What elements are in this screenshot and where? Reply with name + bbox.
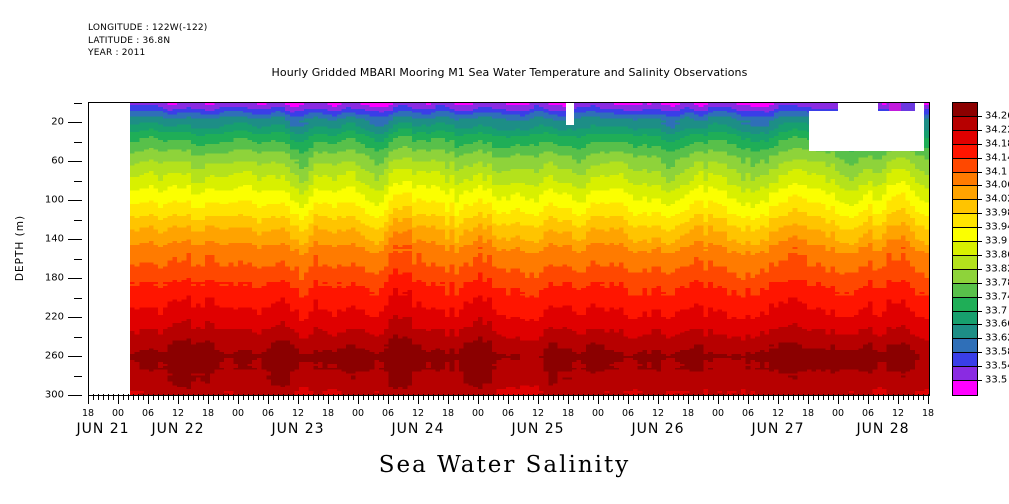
x-axis-minor-tick — [728, 394, 729, 400]
x-axis-major-tick — [688, 394, 689, 404]
colorbar-segment — [953, 117, 977, 131]
y-axis-major-tick — [68, 239, 82, 240]
x-axis-hour-label: 18 — [562, 408, 574, 419]
x-axis-minor-tick — [653, 394, 654, 400]
y-axis-title: DEPTH (m) — [14, 215, 26, 281]
colorbar-tick-label: 34.06 — [985, 180, 1009, 191]
x-axis-minor-tick — [563, 394, 564, 400]
x-axis-minor-tick — [793, 394, 794, 400]
heatmap-plot-area — [88, 102, 930, 396]
x-axis-minor-tick — [248, 394, 249, 400]
colorbar-tick — [977, 227, 982, 228]
x-axis-minor-tick — [593, 394, 594, 400]
x-axis-minor-tick — [483, 394, 484, 400]
y-axis-major-tick — [68, 161, 82, 162]
y-axis-major-tick — [68, 200, 82, 201]
x-axis-hour-label: 12 — [532, 408, 544, 419]
colorbar-segment — [953, 200, 977, 214]
colorbar-segment — [953, 145, 977, 159]
x-axis-minor-tick — [128, 394, 129, 400]
colorbar-tick — [977, 116, 982, 117]
x-axis-minor-tick — [188, 394, 189, 400]
x-axis-minor-tick — [558, 394, 559, 400]
x-axis-minor-tick — [893, 394, 894, 400]
x-axis-major-tick — [478, 394, 479, 404]
x-axis-day-label: JUN 21 — [76, 421, 129, 437]
x-axis-major-tick — [628, 394, 629, 404]
x-axis-minor-tick — [438, 394, 439, 400]
colorbar-segment — [953, 242, 977, 256]
x-axis-minor-tick — [288, 394, 289, 400]
x-axis-minor-tick — [698, 394, 699, 400]
x-axis-hour-label: 00 — [592, 408, 604, 419]
x-axis-hour-label: 06 — [862, 408, 874, 419]
x-axis-minor-tick — [303, 394, 304, 400]
x-axis-minor-tick — [318, 394, 319, 400]
x-axis-minor-tick — [708, 394, 709, 400]
x-axis-minor-tick — [493, 394, 494, 400]
x-axis-minor-tick — [878, 394, 879, 400]
x-axis-minor-tick — [613, 394, 614, 400]
x-axis-minor-tick — [333, 394, 334, 400]
x-axis-major-tick — [118, 394, 119, 404]
x-axis-minor-tick — [163, 394, 164, 400]
colorbar-segment — [953, 381, 977, 395]
x-axis-minor-tick — [373, 394, 374, 400]
longitude-text: LONGITUDE : 122W(-122) — [88, 22, 208, 35]
x-axis-major-tick — [808, 394, 809, 404]
y-axis-minor-tick — [74, 376, 82, 377]
x-axis-minor-tick — [578, 394, 579, 400]
x-axis-minor-tick — [833, 394, 834, 400]
colorbar-segment — [953, 173, 977, 187]
x-axis-minor-tick — [393, 394, 394, 400]
colorbar-segment — [953, 228, 977, 242]
colorbar-tick — [977, 255, 982, 256]
x-axis-minor-tick — [873, 394, 874, 400]
x-axis-major-tick — [868, 394, 869, 404]
x-axis-hour-label: 18 — [802, 408, 814, 419]
colorbar-tick-label: 33.62 — [985, 333, 1009, 344]
x-axis-major-tick — [448, 394, 449, 404]
colorbar-tick — [977, 297, 982, 298]
x-axis-minor-tick — [548, 394, 549, 400]
x-axis-minor-tick — [828, 394, 829, 400]
x-axis-major-tick — [778, 394, 779, 404]
x-axis-minor-tick — [133, 394, 134, 400]
x-axis-minor-tick — [263, 394, 264, 400]
page-title: Hourly Gridded MBARI Mooring M1 Sea Wate… — [0, 66, 1009, 79]
colorbar-labels: 34.2634.2234.1834.1434.134.0634.0233.983… — [977, 102, 1009, 396]
colorbar-tick-label: 33.9 — [985, 236, 1007, 247]
x-axis-hour-label: 18 — [322, 408, 334, 419]
colorbar-tick-label: 34.02 — [985, 194, 1009, 205]
colorbar-tick — [977, 324, 982, 325]
x-axis-minor-tick — [713, 394, 714, 400]
x-axis-minor-tick — [723, 394, 724, 400]
colorbar-tick-label: 34.14 — [985, 152, 1009, 163]
x-axis-minor-tick — [853, 394, 854, 400]
x-axis-minor-tick — [673, 394, 674, 400]
colorbar-tick — [977, 352, 982, 353]
x-axis-major-tick — [88, 394, 89, 404]
colorbar-segment — [953, 367, 977, 381]
x-axis-day-label: JUN 23 — [271, 421, 324, 437]
x-axis-minor-tick — [743, 394, 744, 400]
colorbar-tick — [977, 213, 982, 214]
x-axis-minor-tick — [408, 394, 409, 400]
colorbar-tick-label: 33.7 — [985, 305, 1007, 316]
x-axis-minor-tick — [553, 394, 554, 400]
x-axis-major-tick — [898, 394, 899, 404]
x-axis-minor-tick — [618, 394, 619, 400]
colorbar-tick — [977, 199, 982, 200]
x-axis-minor-tick — [203, 394, 204, 400]
y-axis-minor-tick — [74, 259, 82, 260]
x-axis-minor-tick — [918, 394, 919, 400]
x-axis-minor-tick — [903, 394, 904, 400]
colorbar-tick-label: 33.86 — [985, 249, 1009, 260]
colorbar-segment — [953, 131, 977, 145]
x-axis-minor-tick — [403, 394, 404, 400]
x-axis-hour-label: 00 — [112, 408, 124, 419]
x-axis-day-label: JUN 27 — [751, 421, 804, 437]
x-axis-minor-tick — [858, 394, 859, 400]
x-axis-major-tick — [178, 394, 179, 404]
x-axis-minor-tick — [243, 394, 244, 400]
x-axis-major-tick — [298, 394, 299, 404]
x-axis-minor-tick — [378, 394, 379, 400]
colorbar-tick — [977, 338, 982, 339]
x-axis-minor-tick — [803, 394, 804, 400]
x-axis-major-tick — [658, 394, 659, 404]
x-axis-minor-tick — [183, 394, 184, 400]
x-axis-minor-tick — [753, 394, 754, 400]
colorbar-tick — [977, 241, 982, 242]
colorbar-segment — [953, 103, 977, 117]
x-axis-minor-tick — [253, 394, 254, 400]
x-axis-major-tick — [268, 394, 269, 404]
latitude-text: LATITUDE : 36.8N — [88, 35, 208, 48]
x-axis-hour-label: 00 — [472, 408, 484, 419]
x-axis-hour-label: 12 — [172, 408, 184, 419]
y-axis-tick-label: 20 — [51, 117, 64, 128]
x-axis: 1800061218000612180006121800061218000612… — [88, 394, 930, 450]
x-axis-minor-tick — [93, 394, 94, 400]
colorbar-segment — [953, 186, 977, 200]
colorbar — [952, 102, 978, 396]
colorbar-tick — [977, 283, 982, 284]
colorbar-segment — [953, 159, 977, 173]
x-axis-minor-tick — [573, 394, 574, 400]
x-axis-minor-tick — [258, 394, 259, 400]
x-axis-hour-label: 06 — [742, 408, 754, 419]
colorbar-segment — [953, 312, 977, 326]
x-axis-minor-tick — [768, 394, 769, 400]
x-axis-minor-tick — [883, 394, 884, 400]
colorbar-tick-label: 33.74 — [985, 291, 1009, 302]
x-axis-minor-tick — [228, 394, 229, 400]
colorbar-tick-label: 34.22 — [985, 124, 1009, 135]
y-axis-minor-tick — [74, 220, 82, 221]
x-axis-minor-tick — [278, 394, 279, 400]
x-axis-minor-tick — [308, 394, 309, 400]
y-axis-minor-tick — [74, 142, 82, 143]
x-axis-minor-tick — [468, 394, 469, 400]
x-axis-minor-tick — [863, 394, 864, 400]
y-axis-major-tick — [68, 395, 82, 396]
x-axis-minor-tick — [643, 394, 644, 400]
colorbar-segment — [953, 353, 977, 367]
colorbar-tick — [977, 311, 982, 312]
colorbar-segment — [953, 284, 977, 298]
y-axis-tick-label: 140 — [45, 234, 64, 245]
y-axis-minor-tick — [74, 181, 82, 182]
x-axis-hour-label: 12 — [772, 408, 784, 419]
x-axis-minor-tick — [213, 394, 214, 400]
year-text: YEAR : 2011 — [88, 47, 208, 60]
x-axis-hour-label: 00 — [712, 408, 724, 419]
chart-title-text: Hourly Gridded MBARI Mooring M1 Sea Wate… — [272, 66, 748, 79]
x-axis-hour-label: 12 — [892, 408, 904, 419]
x-axis-minor-tick — [413, 394, 414, 400]
colorbar-tick-label: 34.18 — [985, 138, 1009, 149]
colorbar-tick-label: 34.1 — [985, 166, 1007, 177]
x-axis-minor-tick — [848, 394, 849, 400]
x-axis-minor-tick — [143, 394, 144, 400]
colorbar-segment — [953, 298, 977, 312]
x-axis-minor-tick — [223, 394, 224, 400]
x-axis-minor-tick — [668, 394, 669, 400]
x-axis-minor-tick — [458, 394, 459, 400]
x-axis-minor-tick — [608, 394, 609, 400]
x-axis-minor-tick — [363, 394, 364, 400]
figure-caption: Sea Water Salinity — [0, 452, 1009, 478]
y-axis-labels: 2060100140180220260300 — [38, 102, 82, 396]
x-axis-minor-tick — [463, 394, 464, 400]
x-axis-minor-tick — [738, 394, 739, 400]
y-axis-tick-label: 100 — [45, 195, 64, 206]
x-axis-minor-tick — [518, 394, 519, 400]
x-axis-major-tick — [568, 394, 569, 404]
y-axis-major-tick — [68, 278, 82, 279]
x-axis-hour-label: 00 — [832, 408, 844, 419]
x-axis-minor-tick — [173, 394, 174, 400]
y-axis-tick-label: 220 — [45, 312, 64, 323]
x-axis-hour-label: 18 — [82, 408, 94, 419]
y-axis-tick-label: 180 — [45, 273, 64, 284]
x-axis-minor-tick — [313, 394, 314, 400]
x-axis-hour-label: 12 — [652, 408, 664, 419]
x-axis-minor-tick — [823, 394, 824, 400]
colorbar-tick-label: 33.58 — [985, 347, 1009, 358]
x-axis-hour-label: 06 — [622, 408, 634, 419]
x-axis-minor-tick — [693, 394, 694, 400]
x-axis-minor-tick — [103, 394, 104, 400]
x-axis-hour-label: 06 — [502, 408, 514, 419]
x-axis-minor-tick — [453, 394, 454, 400]
x-axis-minor-tick — [683, 394, 684, 400]
x-axis-minor-tick — [348, 394, 349, 400]
x-axis-minor-tick — [583, 394, 584, 400]
x-axis-major-tick — [418, 394, 419, 404]
x-axis-hour-label: 18 — [202, 408, 214, 419]
colorbar-segment — [953, 270, 977, 284]
colorbar-tick-label: 33.98 — [985, 208, 1009, 219]
x-axis-minor-tick — [198, 394, 199, 400]
x-axis-minor-tick — [763, 394, 764, 400]
colorbar-tick-label: 33.94 — [985, 222, 1009, 233]
x-axis-minor-tick — [368, 394, 369, 400]
x-axis-major-tick — [538, 394, 539, 404]
y-axis-major-tick — [68, 317, 82, 318]
x-axis-minor-tick — [218, 394, 219, 400]
y-axis-tick-label: 260 — [45, 351, 64, 362]
x-axis-hour-label: 12 — [412, 408, 424, 419]
colorbar-tick-label: 33.54 — [985, 361, 1009, 372]
x-axis-hour-label: 18 — [682, 408, 694, 419]
x-axis-minor-tick — [638, 394, 639, 400]
x-axis-minor-tick — [428, 394, 429, 400]
x-axis-hour-label: 12 — [292, 408, 304, 419]
colorbar-tick — [977, 269, 982, 270]
colorbar-segment — [953, 214, 977, 228]
x-axis-minor-tick — [473, 394, 474, 400]
colorbar-tick — [977, 144, 982, 145]
x-axis-minor-tick — [338, 394, 339, 400]
x-axis-major-tick — [238, 394, 239, 404]
x-axis-minor-tick — [443, 394, 444, 400]
colorbar-segment — [953, 256, 977, 270]
x-axis-minor-tick — [523, 394, 524, 400]
colorbar-tick — [977, 185, 982, 186]
x-axis-minor-tick — [678, 394, 679, 400]
salinity-contour-field — [89, 103, 929, 395]
x-axis-minor-tick — [273, 394, 274, 400]
x-axis-minor-tick — [383, 394, 384, 400]
x-axis-minor-tick — [433, 394, 434, 400]
x-axis-hour-label: 00 — [232, 408, 244, 419]
x-axis-minor-tick — [783, 394, 784, 400]
x-axis-minor-tick — [98, 394, 99, 400]
x-axis-day-label: JUN 24 — [391, 421, 444, 437]
x-axis-minor-tick — [498, 394, 499, 400]
x-axis-major-tick — [508, 394, 509, 404]
x-axis-major-tick — [208, 394, 209, 404]
x-axis-major-tick — [328, 394, 329, 404]
x-axis-hour-label: 18 — [922, 408, 934, 419]
x-axis-minor-tick — [513, 394, 514, 400]
x-axis-minor-tick — [588, 394, 589, 400]
x-axis-hour-label: 18 — [442, 408, 454, 419]
x-axis-minor-tick — [648, 394, 649, 400]
x-axis-minor-tick — [663, 394, 664, 400]
x-axis-minor-tick — [798, 394, 799, 400]
x-axis-minor-tick — [818, 394, 819, 400]
x-axis-minor-tick — [528, 394, 529, 400]
colorbar-tick — [977, 172, 982, 173]
x-axis-minor-tick — [923, 394, 924, 400]
x-axis-minor-tick — [543, 394, 544, 400]
colorbar-tick — [977, 380, 982, 381]
x-axis-minor-tick — [603, 394, 604, 400]
colorbar-tick-label: 33.66 — [985, 319, 1009, 330]
x-axis-minor-tick — [113, 394, 114, 400]
x-axis-major-tick — [838, 394, 839, 404]
x-axis-minor-tick — [293, 394, 294, 400]
x-axis-minor-tick — [108, 394, 109, 400]
colorbar-segment — [953, 325, 977, 339]
colorbar-tick — [977, 130, 982, 131]
x-axis-major-tick — [358, 394, 359, 404]
x-axis-major-tick — [928, 394, 929, 404]
x-axis-minor-tick — [733, 394, 734, 400]
x-axis-day-label: JUN 25 — [511, 421, 564, 437]
y-axis-major-tick — [68, 356, 82, 357]
x-axis-minor-tick — [158, 394, 159, 400]
x-axis-minor-tick — [153, 394, 154, 400]
station-metadata: LONGITUDE : 122W(-122) LATITUDE : 36.8N … — [88, 22, 208, 60]
x-axis-minor-tick — [323, 394, 324, 400]
x-axis-day-label: JUN 28 — [856, 421, 909, 437]
x-axis-minor-tick — [353, 394, 354, 400]
x-axis-minor-tick — [788, 394, 789, 400]
x-axis-minor-tick — [168, 394, 169, 400]
y-axis-tick-label: 300 — [45, 390, 64, 401]
x-axis-minor-tick — [193, 394, 194, 400]
y-axis-minor-tick — [74, 337, 82, 338]
x-axis-minor-tick — [503, 394, 504, 400]
x-axis-minor-tick — [488, 394, 489, 400]
x-axis-major-tick — [718, 394, 719, 404]
x-axis-hour-label: 06 — [142, 408, 154, 419]
x-axis-major-tick — [748, 394, 749, 404]
x-axis-minor-tick — [123, 394, 124, 400]
x-axis-minor-tick — [398, 394, 399, 400]
colorbar-tick-label: 33.5 — [985, 375, 1007, 386]
x-axis-day-label: JUN 22 — [151, 421, 204, 437]
x-axis-minor-tick — [423, 394, 424, 400]
colorbar-tick — [977, 366, 982, 367]
y-axis-minor-tick — [74, 103, 82, 104]
colorbar-tick-label: 34.26 — [985, 110, 1009, 121]
x-axis-minor-tick — [888, 394, 889, 400]
x-axis-major-tick — [388, 394, 389, 404]
colorbar-tick — [977, 158, 982, 159]
x-axis-day-label: JUN 26 — [631, 421, 684, 437]
x-axis-minor-tick — [138, 394, 139, 400]
x-axis-major-tick — [148, 394, 149, 404]
y-axis-tick-label: 60 — [51, 156, 64, 167]
x-axis-minor-tick — [533, 394, 534, 400]
x-axis-minor-tick — [843, 394, 844, 400]
x-axis-minor-tick — [703, 394, 704, 400]
y-axis-minor-tick — [74, 298, 82, 299]
y-axis-major-tick — [68, 122, 82, 123]
x-axis-minor-tick — [773, 394, 774, 400]
x-axis-minor-tick — [913, 394, 914, 400]
x-axis-minor-tick — [233, 394, 234, 400]
x-axis-major-tick — [598, 394, 599, 404]
x-axis-hour-label: 06 — [382, 408, 394, 419]
x-axis-minor-tick — [813, 394, 814, 400]
x-axis-minor-tick — [623, 394, 624, 400]
x-axis-minor-tick — [758, 394, 759, 400]
x-axis-minor-tick — [908, 394, 909, 400]
x-axis-minor-tick — [633, 394, 634, 400]
colorbar-segment — [953, 339, 977, 353]
colorbar-tick-label: 33.82 — [985, 263, 1009, 274]
